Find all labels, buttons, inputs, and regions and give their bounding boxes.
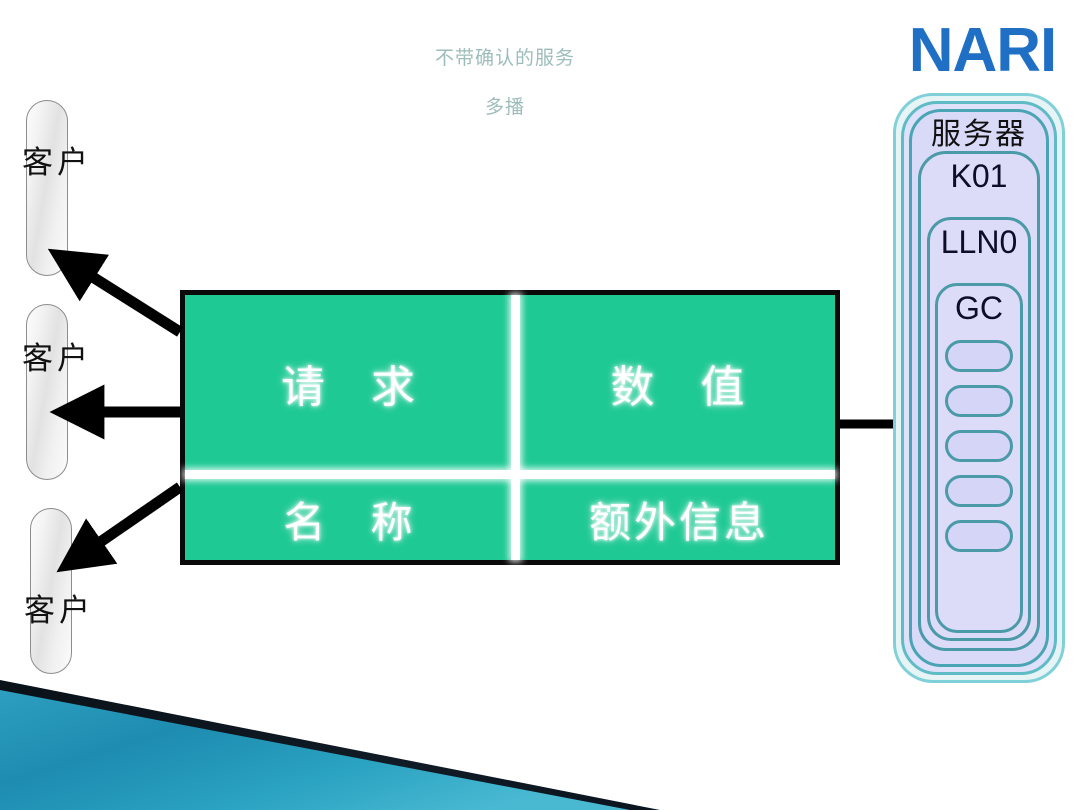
nari-logo: NARI [895, 20, 1070, 82]
message-panel: 请 求 数 值 名 称 额外信息 [180, 290, 840, 565]
server-box-lln0-label: LLN0 [927, 224, 1031, 261]
panel-cell-name: 名 称 [185, 479, 511, 560]
slide-title: 不带确认的服务 多播 [350, 22, 660, 144]
client-node-1-label: 客户 [22, 137, 132, 182]
slide-canvas: 不带确认的服务 多播 客户 客户 客户 请 求 数 值 名 称 额外信息 服务器 [0, 0, 1080, 810]
arrow-up-left-icon [72, 264, 180, 332]
client-node-1 [26, 100, 68, 276]
panel-cell-extra: 额外信息 [520, 479, 835, 560]
panel-cell-request: 请 求 [185, 295, 511, 470]
panel-divider-vertical [511, 295, 520, 560]
server-empty-slot [945, 385, 1013, 417]
client-node-2 [26, 304, 68, 480]
client-node-3-label: 客户 [24, 585, 134, 630]
decorative-wedge [0, 680, 700, 810]
server-empty-slot [945, 475, 1013, 507]
server-box-gc-label: GC [935, 290, 1023, 327]
server-empty-slot [945, 340, 1013, 372]
client-node-2-label: 客户 [22, 333, 132, 378]
arrow-down-left-icon [80, 487, 180, 556]
title-line-2: 多播 [350, 95, 660, 119]
server-label: 服务器 [909, 109, 1049, 153]
server-empty-slot [945, 520, 1013, 552]
server-empty-slot [945, 430, 1013, 462]
server-stack: 服务器 K01 LLN0 GC [893, 93, 1065, 683]
title-line-1: 不带确认的服务 [435, 47, 575, 69]
server-box-k01-label: K01 [918, 158, 1040, 195]
panel-cell-value: 数 值 [520, 295, 835, 470]
panel-divider-horizontal [185, 470, 835, 479]
